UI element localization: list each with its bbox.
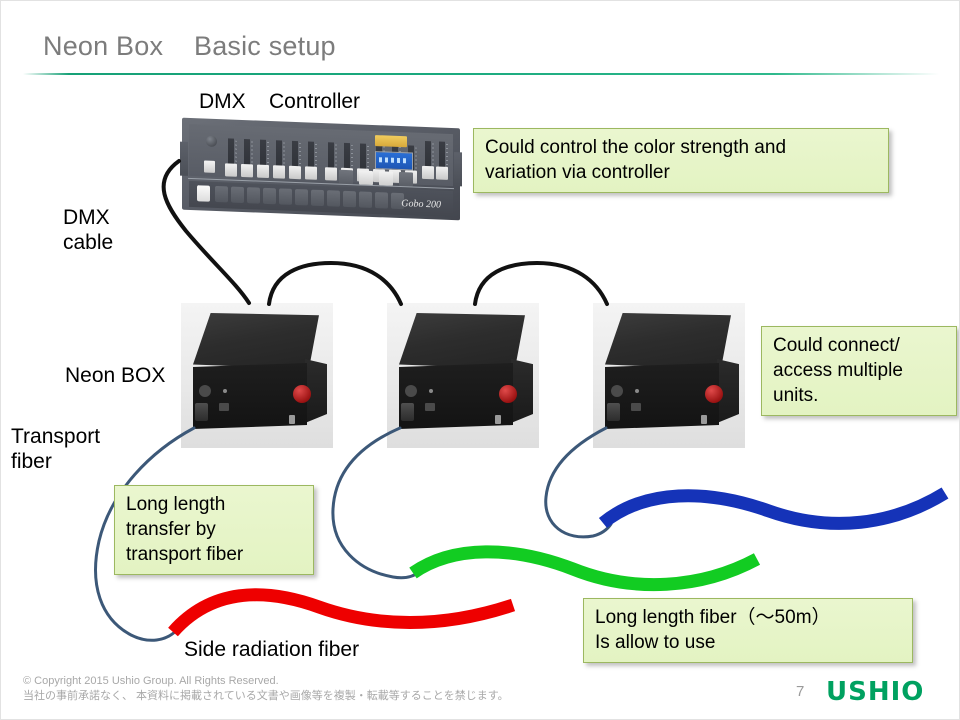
neon-box-fiber-port bbox=[607, 403, 620, 421]
controller-scene-pad-10 bbox=[359, 191, 372, 207]
neon-box-connector-usb bbox=[631, 403, 641, 411]
controller-menu-button-3 bbox=[379, 171, 393, 186]
neon-box-foot bbox=[289, 415, 295, 424]
controller-scene-pad-11 bbox=[375, 192, 388, 208]
controller-fader-1 bbox=[228, 138, 234, 170]
copyright-line-2: 当社の事前承諾なく、 本資料に掲載されている文書や画像等を複製・転載等することを… bbox=[23, 690, 509, 702]
neon-box-emergency-stop-button bbox=[293, 385, 311, 403]
neon-box-front-face bbox=[605, 363, 719, 429]
controller-rotary-knob bbox=[206, 136, 217, 147]
page-number: 7 bbox=[796, 683, 804, 700]
controller-scene-pad-3 bbox=[247, 187, 260, 203]
controller-chassis: Gobo 200 bbox=[182, 118, 460, 221]
controller-scene-pad-6 bbox=[295, 189, 308, 205]
neon-box-connector-usb bbox=[219, 403, 229, 411]
dmx-cable-box2-to-box3 bbox=[475, 263, 607, 304]
neon-box-fiber-port bbox=[401, 403, 414, 421]
label-neon-box: Neon BOX bbox=[65, 363, 165, 388]
controller-fader-7 bbox=[328, 142, 334, 174]
controller-brand-plate bbox=[375, 135, 407, 147]
ushio-logo: USHIO bbox=[826, 677, 924, 707]
neon-box-label-strip bbox=[241, 455, 283, 463]
side-radiation-fiber-blue bbox=[603, 493, 945, 523]
dmx-controller-photo: Gobo 200 bbox=[179, 119, 465, 223]
controller-scene-pad-8 bbox=[327, 190, 340, 206]
controller-master-fader-b bbox=[439, 142, 445, 174]
controller-menu-button-2 bbox=[359, 170, 373, 185]
neon-box-emergency-stop-button bbox=[499, 385, 517, 403]
controller-fader-2 bbox=[244, 139, 250, 171]
label-dmx-controller: DMX Controller bbox=[199, 89, 360, 114]
side-radiation-fiber-green bbox=[413, 552, 757, 585]
neon-box-unit-2 bbox=[387, 303, 539, 448]
controller-scene-pad-0 bbox=[197, 185, 210, 201]
neon-box-emergency-stop-button bbox=[705, 385, 723, 403]
controller-brand-text: Gobo 200 bbox=[401, 198, 441, 211]
controller-fader-6 bbox=[308, 142, 314, 174]
neon-box-label-strip bbox=[447, 455, 489, 463]
controller-fader-4 bbox=[276, 140, 282, 172]
controller-mode-button bbox=[204, 161, 215, 173]
slide-canvas: Neon Box Basic setup bbox=[0, 0, 960, 720]
callout-color-control: Could control the color strength and var… bbox=[473, 128, 889, 193]
neon-box-front-face bbox=[399, 363, 513, 429]
controller-master-fader-a bbox=[425, 141, 431, 173]
neon-box-foot bbox=[495, 415, 501, 424]
neon-box-screw-1 bbox=[223, 389, 227, 393]
neon-box-label-strip bbox=[653, 455, 695, 463]
dmx-cable-box1-to-box2 bbox=[269, 263, 401, 304]
controller-scene-pad-9 bbox=[343, 191, 356, 207]
neon-box-screw-1 bbox=[429, 389, 433, 393]
label-side-radiation-fiber: Side radiation fiber bbox=[184, 637, 359, 662]
neon-box-connector-round bbox=[405, 385, 417, 397]
callout-long-length-fiber: Long length fiber（～50m） Is allow to use bbox=[583, 598, 913, 663]
controller-rack-ear-right bbox=[454, 152, 462, 186]
controller-scene-pad-5 bbox=[279, 188, 292, 204]
neon-box-connector-round bbox=[611, 385, 623, 397]
neon-box-top-face bbox=[399, 313, 525, 369]
neon-box-foot bbox=[701, 415, 707, 424]
side-radiation-fiber-red bbox=[173, 595, 513, 632]
page-title: Neon Box Basic setup bbox=[43, 31, 336, 62]
controller-scene-pad-4 bbox=[263, 188, 276, 204]
callout-long-length-transfer: Long length transfer by transport fiber bbox=[114, 485, 314, 575]
neon-box-connector-round bbox=[199, 385, 211, 397]
transport-fiber-box2-to-green bbox=[333, 428, 419, 578]
controller-menu-button-4 bbox=[399, 172, 413, 187]
callout-multi-unit: Could connect/ access multiple units. bbox=[761, 326, 957, 416]
controller-scene-pad-7 bbox=[311, 190, 324, 206]
neon-box-front-face bbox=[193, 363, 307, 429]
controller-lcd-display bbox=[375, 151, 413, 170]
controller-scene-pad-2 bbox=[231, 187, 244, 203]
neon-box-unit-3 bbox=[593, 303, 745, 448]
copyright-line-1: © Copyright 2015 Ushio Group. All Rights… bbox=[23, 675, 279, 687]
neon-box-top-face bbox=[605, 313, 731, 369]
title-underline-rule bbox=[23, 73, 939, 75]
controller-scene-pad-1 bbox=[215, 186, 228, 202]
footer-copyright: © Copyright 2015 Ushio Group. All Rights… bbox=[23, 674, 509, 704]
label-dmx-cable: DMX cable bbox=[63, 205, 113, 255]
controller-menu-button-1 bbox=[339, 170, 353, 185]
neon-box-connector-usb bbox=[425, 403, 435, 411]
controller-fader-5 bbox=[292, 141, 298, 173]
label-transport-fiber: Transport fiber bbox=[11, 424, 100, 474]
neon-box-fiber-port bbox=[195, 403, 208, 421]
neon-box-unit-1 bbox=[181, 303, 333, 448]
controller-upper-panel bbox=[189, 124, 453, 186]
controller-rack-ear-left bbox=[180, 142, 188, 176]
neon-box-screw-1 bbox=[635, 389, 639, 393]
neon-box-top-face bbox=[193, 313, 319, 369]
controller-fader-3 bbox=[260, 140, 266, 172]
